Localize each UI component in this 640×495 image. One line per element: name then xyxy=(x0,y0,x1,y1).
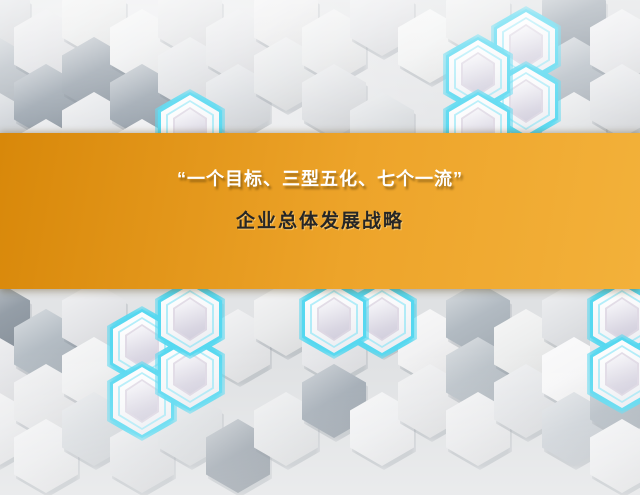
slide-subtitle: 企业总体发展战略 xyxy=(0,188,640,231)
title-banner: “一个目标、三型五化、七个一流” 企业总体发展战略 xyxy=(0,133,640,289)
glowing-hexagon xyxy=(158,282,222,356)
glowing-hexagon xyxy=(590,337,640,411)
slide-canvas: “一个目标、三型五化、七个一流” 企业总体发展战略 xyxy=(0,0,640,495)
slide-title: “一个目标、三型五化、七个一流” xyxy=(0,133,640,188)
glowing-hexagon xyxy=(302,282,366,356)
